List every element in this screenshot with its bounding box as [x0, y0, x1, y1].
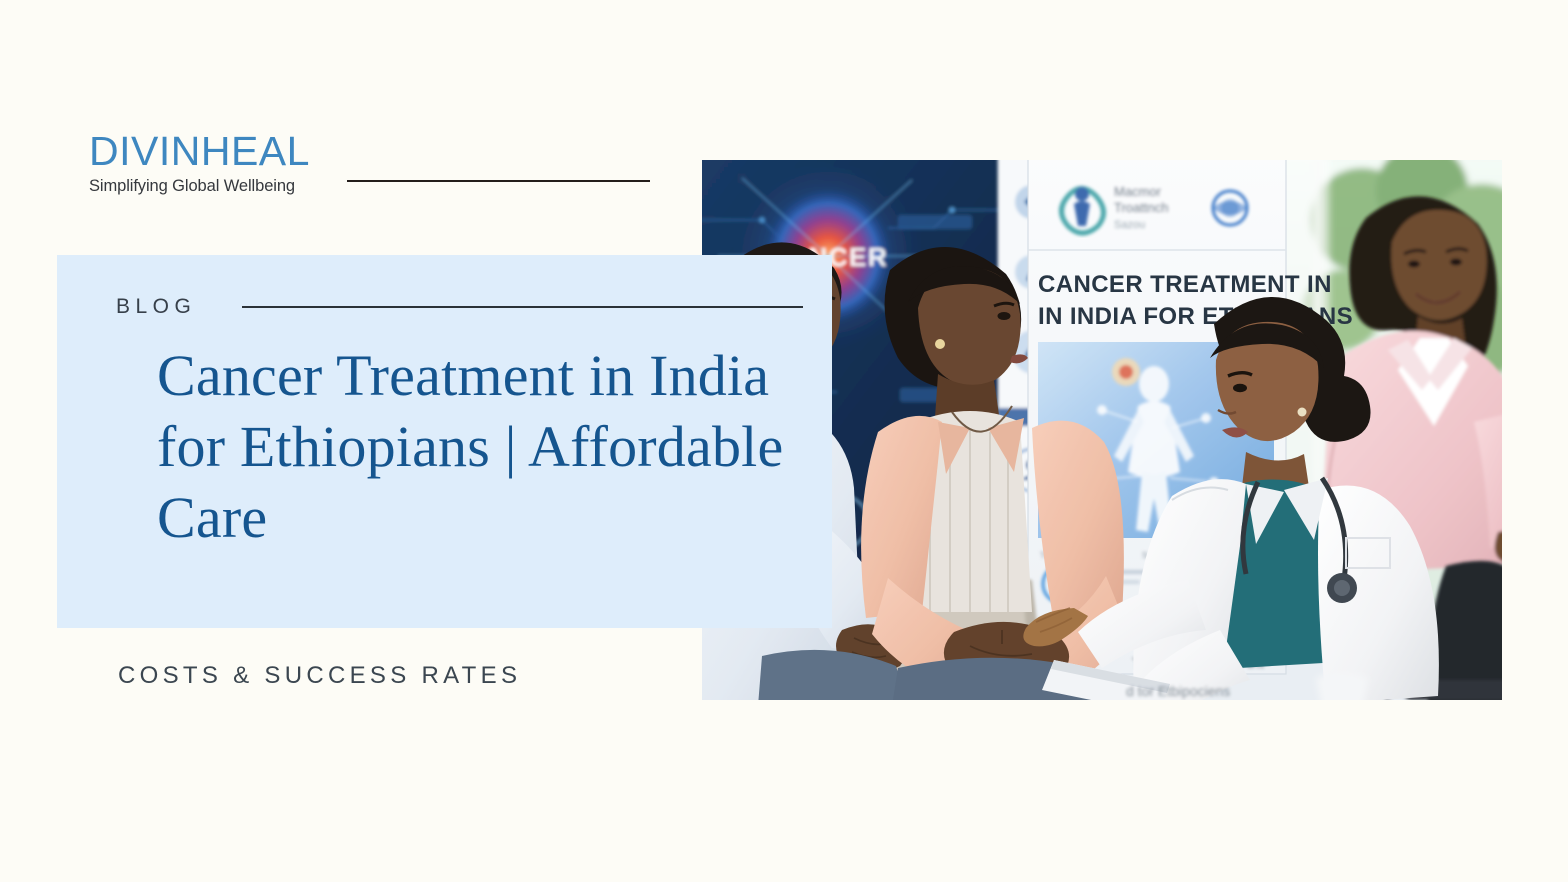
- brand-logo[interactable]: DIVINHEAL Simplifying Global Wellbeing: [89, 131, 310, 195]
- kicker-divider-rule: [242, 306, 803, 308]
- headline-panel: BLOG Cancer Treatment in India for Ethio…: [57, 255, 832, 628]
- brand-name: DIVINHEAL: [89, 131, 310, 172]
- kicker-row: BLOG: [116, 295, 803, 319]
- subtitle-label: COSTS & SUCCESS RATES: [118, 662, 521, 690]
- brand-divider-rule: [347, 180, 650, 182]
- kicker-label: BLOG: [116, 295, 196, 319]
- brand-tagline: Simplifying Global Wellbeing: [89, 177, 310, 195]
- page-title: Cancer Treatment in India for Ethiopians…: [157, 341, 817, 553]
- poster-canvas: DIVINHEAL Simplifying Global Wellbeing: [0, 0, 1568, 882]
